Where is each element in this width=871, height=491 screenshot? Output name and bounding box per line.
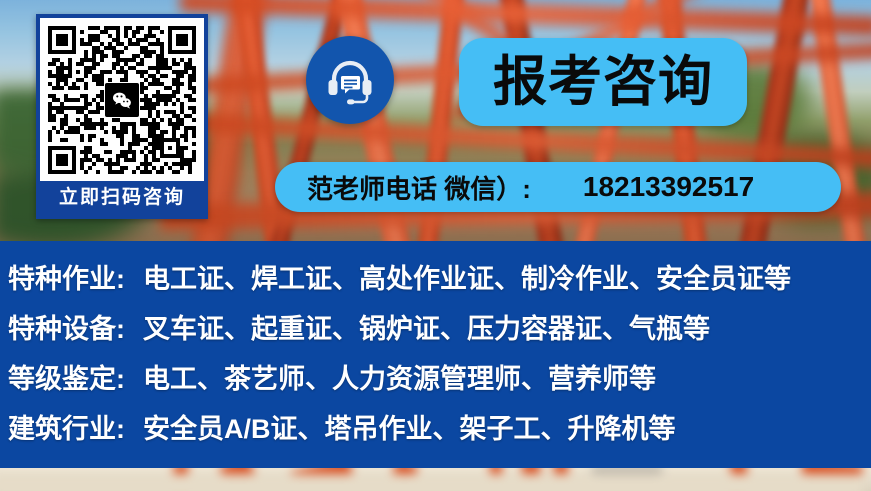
category-row: 特种设备: 叉车证、起重证、锅炉证、压力容器证、气瓶等 <box>0 307 871 357</box>
wechat-qr-code <box>48 26 196 174</box>
headset-support-badge[interactable] <box>306 36 394 124</box>
category-label: 等级鉴定: <box>8 357 125 396</box>
contact-phone-number[interactable]: 18213392517 <box>583 171 754 203</box>
qr-card-caption: 立即扫码咨询 <box>59 181 185 215</box>
qr-code-card[interactable]: 立即扫码咨询 <box>36 14 208 219</box>
bottom-photo-blur <box>0 468 871 491</box>
wechat-icon <box>105 83 139 117</box>
contact-phone-pill[interactable]: 范老师电话 微信）: 18213392517 <box>275 162 841 212</box>
category-items: 叉车证、起重证、锅炉证、压力容器证、气瓶等 <box>143 307 710 346</box>
headset-support-icon <box>323 53 377 107</box>
category-row: 特种作业: 电工证、焊工证、高处作业证、制冷作业、安全员证等 <box>0 257 871 307</box>
consultation-title-pill[interactable]: 报考咨询 <box>459 38 747 126</box>
category-row: 等级鉴定: 电工、茶艺师、人力资源管理师、营养师等 <box>0 357 871 407</box>
contact-label: 范老师电话 微信）: <box>307 169 531 206</box>
bottom-photo-strip <box>0 468 871 491</box>
category-label: 建筑行业: <box>8 407 125 446</box>
certificate-categories-section: 特种作业: 电工证、焊工证、高处作业证、制冷作业、安全员证等 特种设备: 叉车证… <box>0 241 871 468</box>
category-items: 安全员A/B证、塔吊作业、架子工、升降机等 <box>143 407 676 446</box>
category-items: 电工、茶艺师、人力资源管理师、营养师等 <box>143 357 656 396</box>
category-items: 电工证、焊工证、高处作业证、制冷作业、安全员证等 <box>143 257 791 296</box>
consultation-title-text: 报考咨询 <box>493 55 713 109</box>
qr-code-surface <box>40 18 204 181</box>
category-label: 特种作业: <box>8 257 125 296</box>
category-row: 建筑行业: 安全员A/B证、塔吊作业、架子工、升降机等 <box>0 407 871 457</box>
promo-poster: 立即扫码咨询 报考咨询 范老师电话 微信）: 18213392517 <box>0 0 871 491</box>
category-label: 特种设备: <box>8 307 125 346</box>
photo-ground <box>0 474 863 491</box>
